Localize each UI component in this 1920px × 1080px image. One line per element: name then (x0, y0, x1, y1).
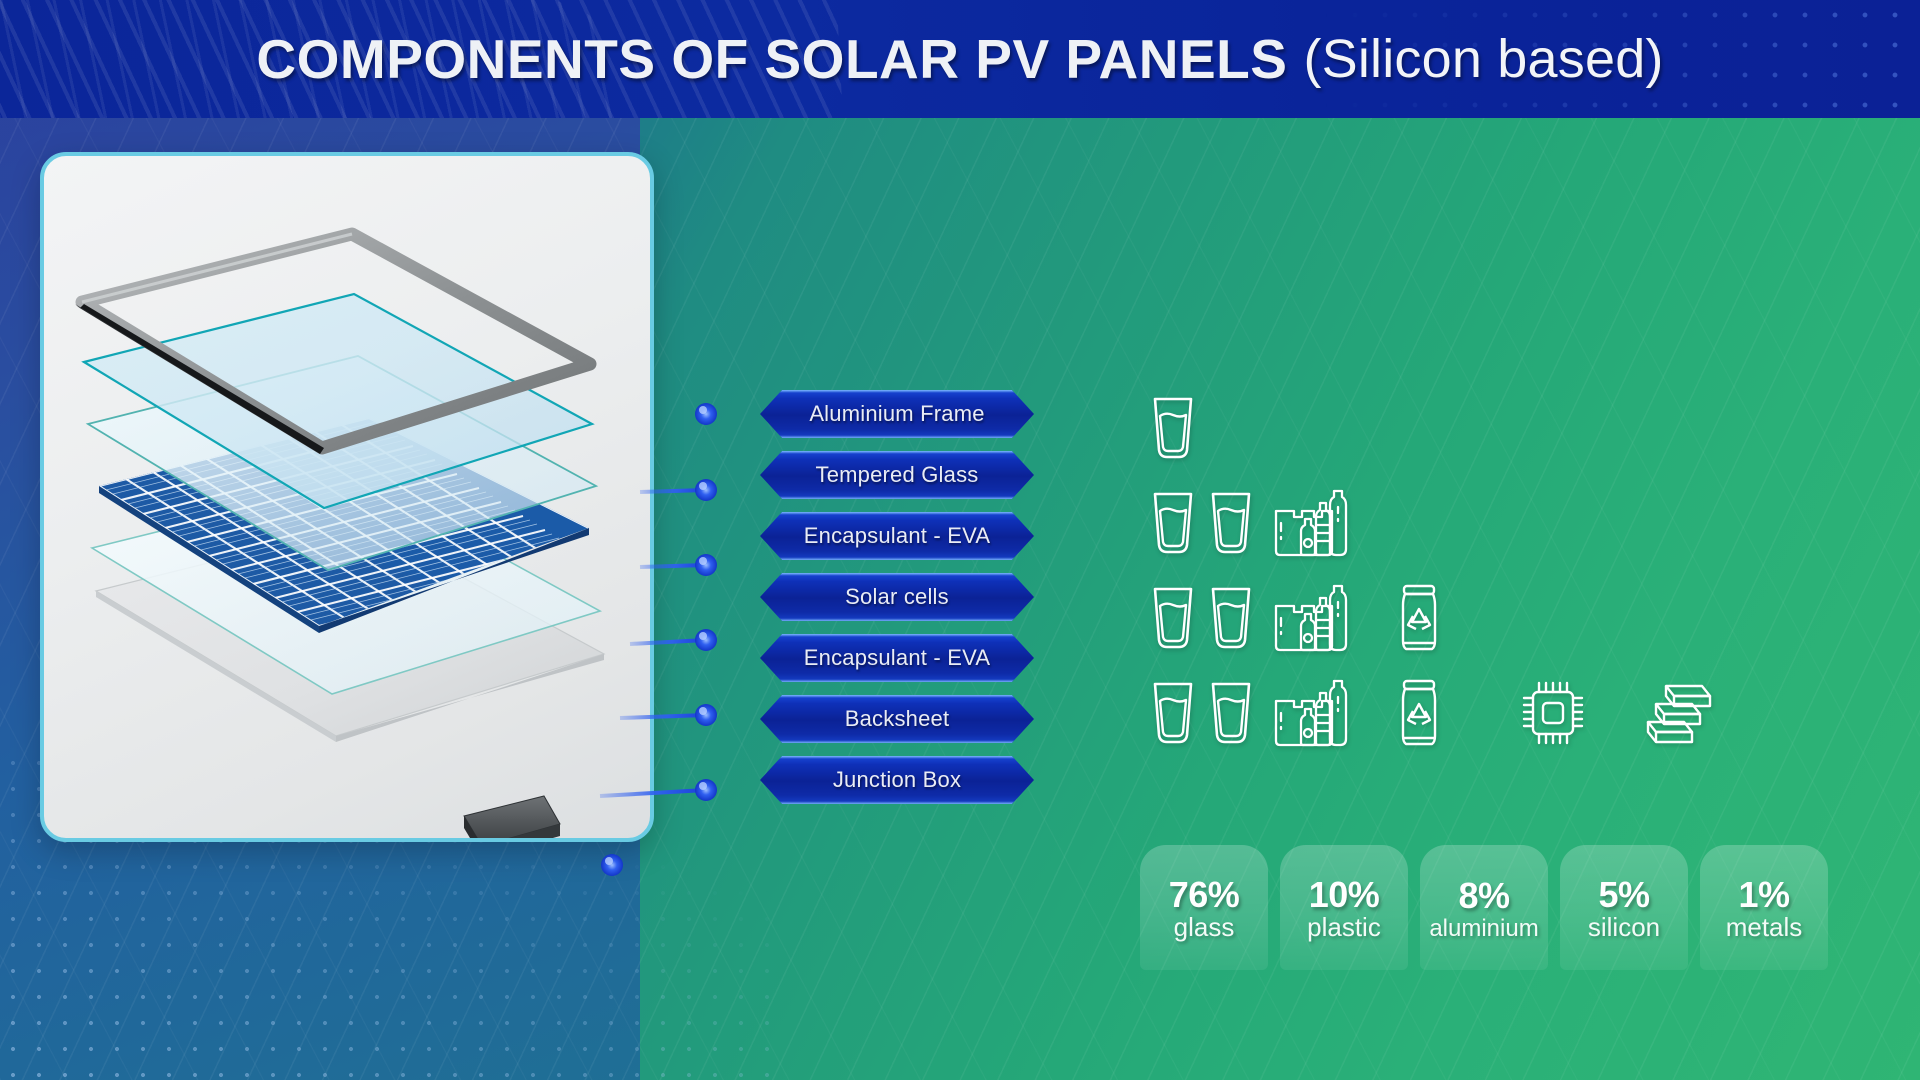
icon-cell-plastic-row3 (1272, 570, 1396, 665)
solar-panel-diagram-card (40, 152, 654, 842)
icon-cell-metals-row4 (1644, 665, 1768, 760)
label-text: Backsheet (845, 706, 950, 732)
percent-label: plastic (1307, 913, 1381, 943)
label-badge-solar-cells[interactable]: Solar cells (760, 573, 1034, 621)
label-text: Encapsulant - EVA (804, 645, 990, 671)
label-text: Tempered Glass (816, 462, 979, 488)
layer-label-list: Aluminium Frame Tempered Glass Encapsula… (760, 390, 1040, 817)
percent-value: 5% (1598, 876, 1649, 914)
icon-cell-aluminium-row3 (1396, 570, 1520, 665)
percent-card-metals[interactable]: 1% metals (1700, 845, 1828, 970)
percent-label: glass (1174, 913, 1235, 943)
percent-value: 10% (1309, 876, 1380, 914)
label-badge-backsheet[interactable]: Backsheet (760, 695, 1034, 743)
drinking-glass-icon (1148, 585, 1198, 651)
drinking-glass-icon (1206, 490, 1256, 556)
label-text: Solar cells (845, 584, 949, 610)
percent-label: metals (1726, 913, 1803, 943)
percent-value: 1% (1738, 876, 1789, 914)
infographic-stage: COMPONENTS OF SOLAR PV PANELS (Silicon b… (0, 0, 1920, 1080)
icon-cell-glass-row1 (1148, 380, 1272, 475)
metal-ingots-icon (1644, 682, 1714, 744)
label-badge-aluminium-frame[interactable]: Aluminium Frame (760, 390, 1034, 438)
page-title: COMPONENTS OF SOLAR PV PANELS (Silicon b… (0, 0, 1920, 118)
layer-junction-box (464, 796, 560, 838)
percent-card-plastic[interactable]: 10% plastic (1280, 845, 1408, 970)
plastic-bottles-bag-icon (1272, 487, 1350, 559)
percent-value: 76% (1169, 876, 1240, 914)
icon-cell-glass-row2 (1148, 475, 1272, 570)
icon-cell-silicon-row4 (1520, 665, 1644, 760)
label-badge-encapsulant-top[interactable]: Encapsulant - EVA (760, 512, 1034, 560)
icon-cell-glass-row4 (1148, 665, 1272, 760)
drinking-glass-icon (1206, 680, 1256, 746)
aluminium-can-recycle-icon (1396, 583, 1442, 653)
page-header: COMPONENTS OF SOLAR PV PANELS (Silicon b… (0, 0, 1920, 118)
plastic-bottles-bag-icon (1272, 582, 1350, 654)
percent-label: silicon (1588, 913, 1660, 943)
percent-card-silicon[interactable]: 5% silicon (1560, 845, 1688, 970)
drinking-glass-icon (1148, 490, 1198, 556)
label-text: Encapsulant - EVA (804, 523, 990, 549)
plastic-bottles-bag-icon (1272, 677, 1350, 749)
icon-cell-plastic-row4 (1272, 665, 1396, 760)
label-badge-junction-box[interactable]: Junction Box (760, 756, 1034, 804)
drinking-glass-icon (1148, 680, 1198, 746)
cpu-chip-icon (1520, 679, 1586, 747)
exploded-panel-illustration (44, 156, 650, 838)
label-badge-tempered-glass[interactable]: Tempered Glass (760, 451, 1034, 499)
label-text: Junction Box (833, 767, 961, 793)
page-title-main: COMPONENTS OF SOLAR PV PANELS (256, 27, 1287, 91)
label-badge-encapsulant-bottom[interactable]: Encapsulant - EVA (760, 634, 1034, 682)
page-title-subtitle: (Silicon based) (1303, 28, 1663, 90)
label-text: Aluminium Frame (809, 401, 984, 427)
drinking-glass-icon (1206, 585, 1256, 651)
material-percentage-cards: 76% glass 10% plastic 8% aluminium 5% si… (1140, 845, 1828, 970)
icon-cell-glass-row3 (1148, 570, 1272, 665)
icon-cell-plastic-row2 (1272, 475, 1396, 570)
percent-card-aluminium[interactable]: 8% aluminium (1420, 845, 1548, 970)
aluminium-can-recycle-icon (1396, 678, 1442, 748)
drinking-glass-icon (1148, 395, 1198, 461)
icon-cell-aluminium-row4 (1396, 665, 1520, 760)
percent-label: aluminium (1429, 915, 1538, 943)
percent-card-glass[interactable]: 76% glass (1140, 845, 1268, 970)
material-icon-grid (1148, 380, 1768, 760)
percent-value: 8% (1458, 877, 1509, 915)
